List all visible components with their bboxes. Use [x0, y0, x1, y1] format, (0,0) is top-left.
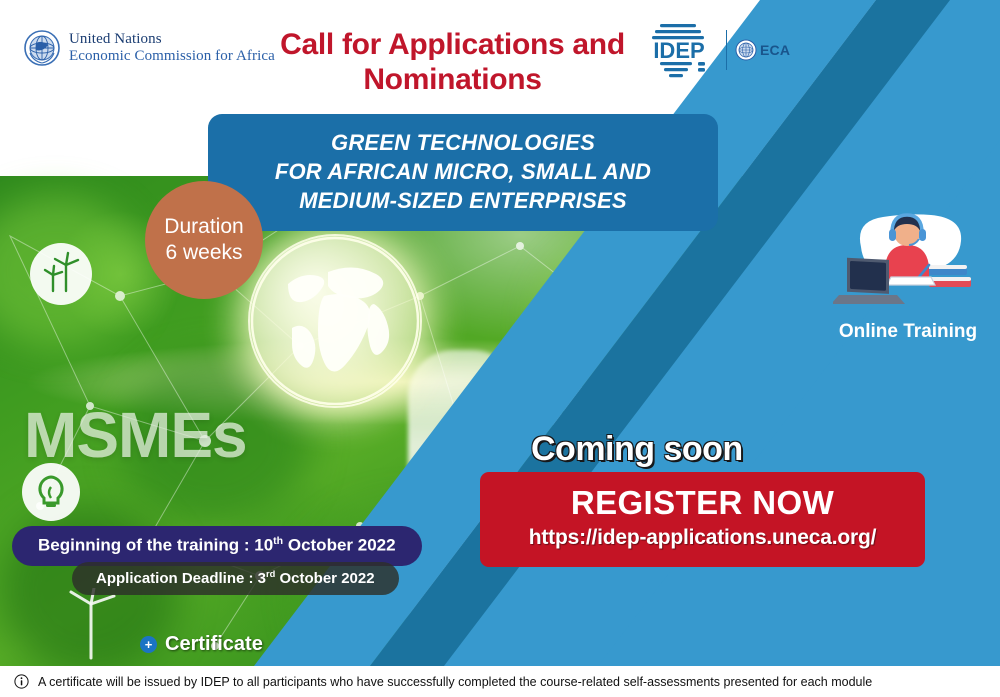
course-title-line1: GREEN TECHNOLOGIES: [226, 128, 700, 157]
student-laptop-illustration-icon: [833, 205, 983, 309]
footer-note-bar: A certificate will be issued by IDEP to …: [0, 666, 1000, 697]
duration-badge: Duration 6 weeks: [145, 181, 263, 299]
training-start-rest: October 2022: [283, 536, 395, 555]
online-training-block: Online Training: [828, 205, 988, 343]
register-now-label: REGISTER NOW: [490, 485, 915, 521]
training-start-prefix: Beginning of the training : 10: [38, 536, 273, 555]
org-name-line2: Economic Commission for Africa: [69, 48, 275, 65]
deadline-rest: October 2022: [275, 570, 374, 587]
course-title-line3: MEDIUM-SIZED ENTERPRISES: [226, 186, 700, 215]
info-icon: [14, 674, 29, 689]
uneca-logo: United Nations Economic Commission for A…: [24, 30, 275, 66]
online-training-label: Online Training: [828, 321, 988, 343]
certificate-label: Certificate: [165, 633, 263, 656]
eca-label: ECA: [760, 42, 790, 58]
course-title-line2: FOR AFRICAN MICRO, SMALL AND: [226, 157, 700, 186]
footer-note-text: A certificate will be issued by IDEP to …: [38, 675, 872, 689]
page-title: Call for Applications and Nominations: [280, 28, 625, 98]
idep-logo: IDEP ECA: [640, 22, 790, 78]
org-name-line1: United Nations: [69, 31, 275, 48]
course-title-banner: GREEN TECHNOLOGIES FOR AFRICAN MICRO, SM…: [208, 114, 718, 231]
application-deadline-badge: Application Deadline : 3rd October 2022: [72, 562, 399, 595]
poster-canvas: MSMEs: [0, 0, 1000, 697]
deadline-ordinal: rd: [266, 569, 275, 579]
plus-icon: +: [140, 636, 157, 653]
idep-wordmark-icon: IDEP: [640, 22, 718, 78]
register-now-button[interactable]: REGISTER NOW https://idep-applications.u…: [480, 472, 925, 567]
deadline-prefix: Application Deadline : 3: [96, 570, 266, 587]
duration-label: Duration: [164, 214, 243, 240]
duration-value: 6 weeks: [165, 240, 242, 266]
register-url-link[interactable]: https://idep-applications.uneca.org/: [490, 526, 915, 550]
un-emblem-icon: [735, 39, 757, 61]
coming-soon-label: Coming soon: [531, 430, 743, 469]
training-start-badge: Beginning of the training : 10th October…: [12, 526, 422, 566]
training-start-ordinal: th: [273, 535, 283, 547]
un-emblem-icon: [24, 30, 60, 66]
svg-text:IDEP: IDEP: [653, 38, 704, 63]
certificate-feature: + Certificate: [140, 633, 263, 656]
